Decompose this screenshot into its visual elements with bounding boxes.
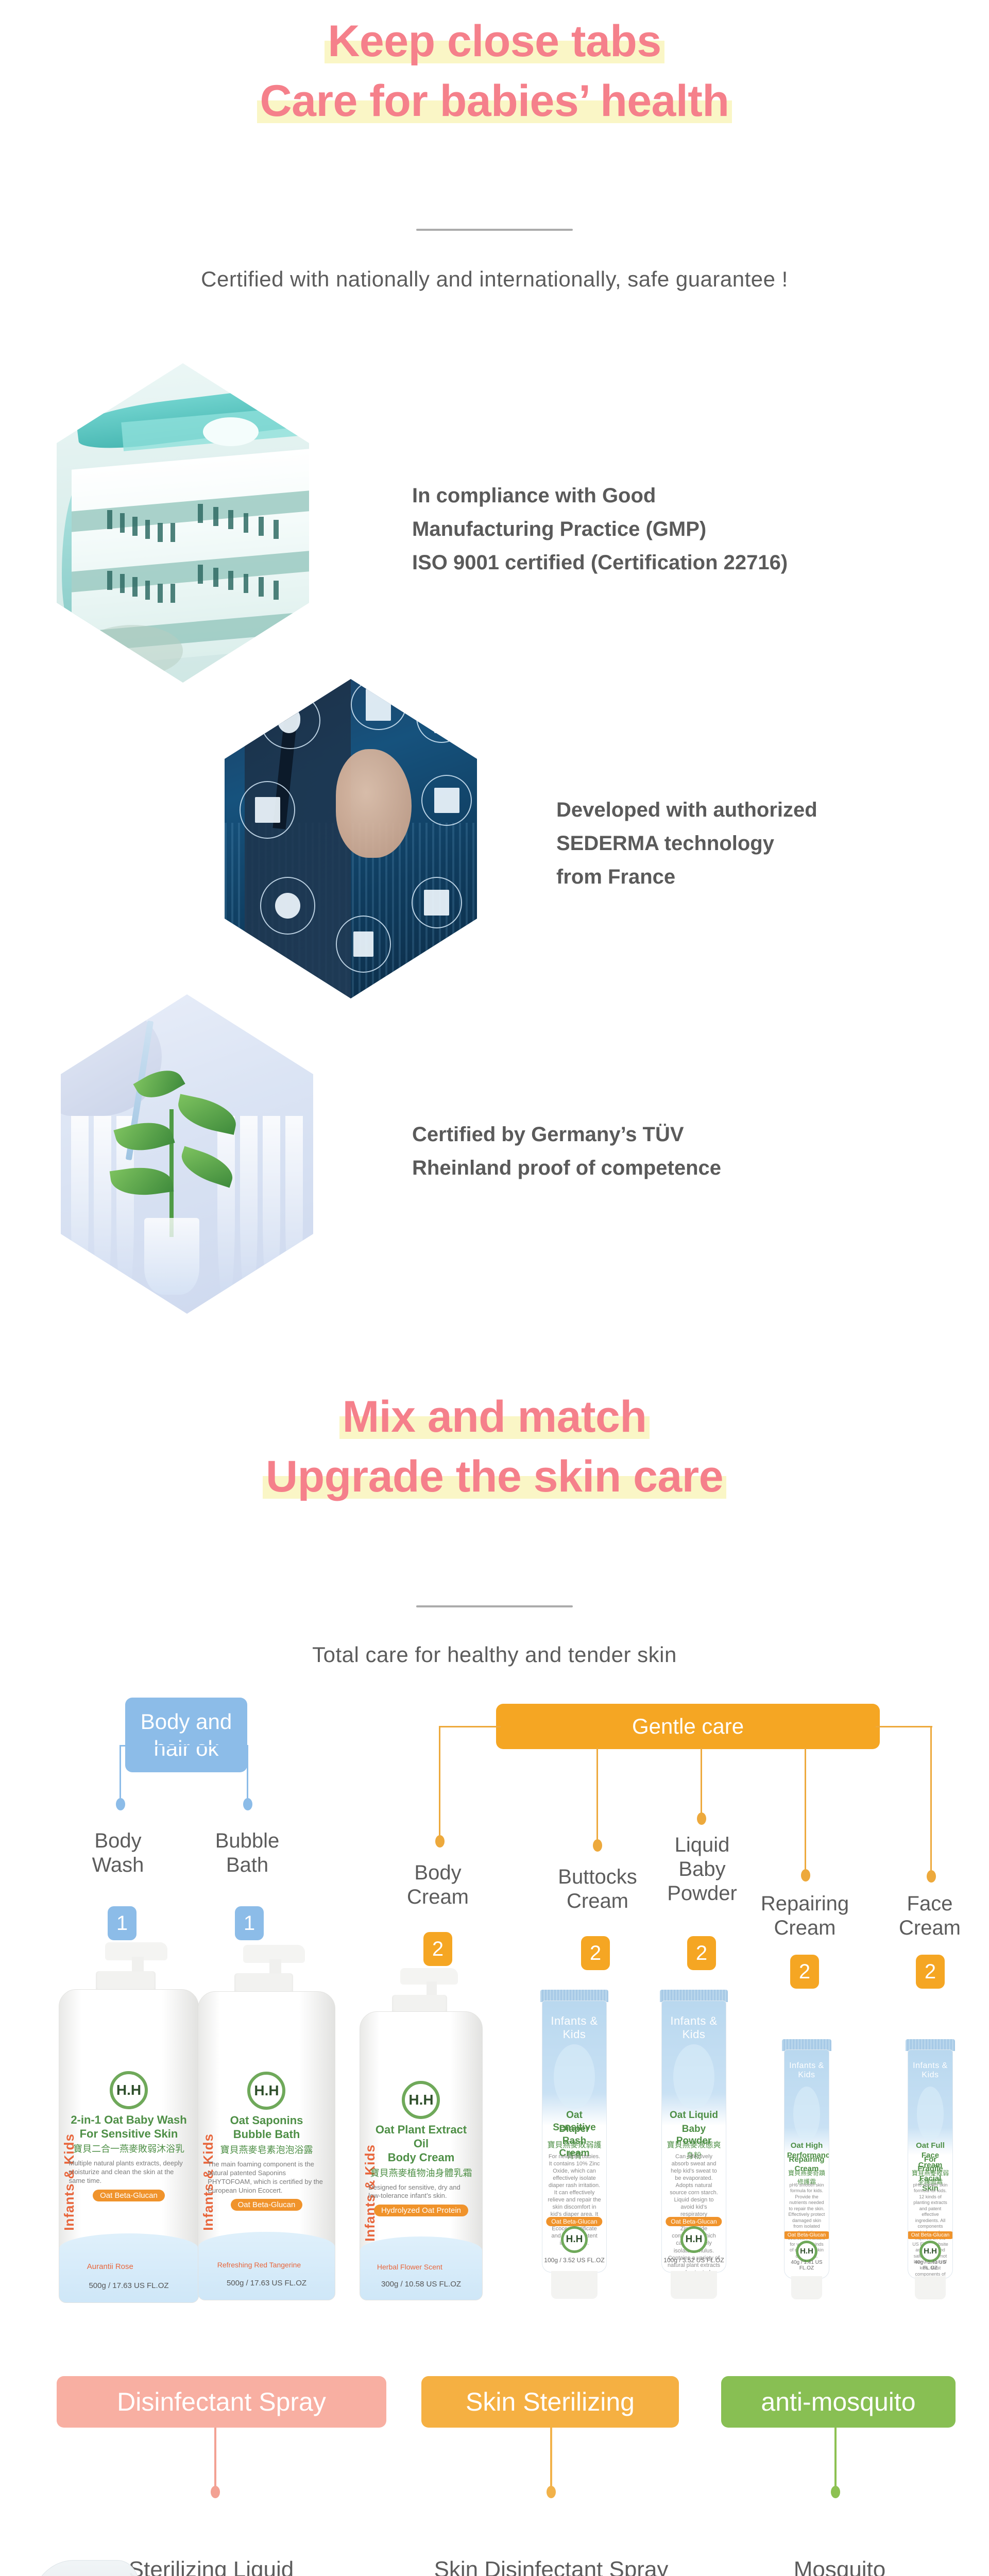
certification-hexagon-laboratory [61,994,313,1314]
bottle-title-cn: 寶貝燕麥皂素泡泡浴露 [220,2143,313,2156]
badge-repairing-cream: 2 [790,1955,819,1989]
badge-liquid-baby-powder: 2 [687,1936,716,1970]
section1-heading-line2: Care for babies’ health [257,75,732,127]
product-label-liquid-baby-powder: Liquid Baby Powder [653,1833,751,1906]
caption-line: Rheinland proof of competence [412,1151,721,1185]
ingredient-chip: Oat Beta-Glucan [784,2231,830,2239]
connector-horizontal [439,1726,501,1727]
section2-heading: Mix and match [0,1391,989,1443]
caption-line: SEDERMA technology [556,827,817,860]
tube-description: Can effectively absorb sweat and help ki… [667,2153,721,2273]
bottle-bullet-1: Designed for sensitive, dry and low-tole… [368,2183,473,2201]
certification-caption-sederma: Developed with authorized SEDERMA techno… [556,793,817,893]
caption-line: ISO 9001 certified (Certification 22716) [412,546,788,580]
connector-dot [211,2486,220,2498]
connector-horizontal [120,1745,248,1747]
certification-caption-gmp: In compliance with Good Manufacturing Pr… [412,479,788,579]
product-label-body-wash: Body Wash [69,1829,167,1877]
net-size: 500g / 17.63 US FL.OZ [198,2279,335,2287]
connector-dot [801,1869,810,1882]
group-tag-anti-mosquito[interactable]: anti-mosquito [721,2376,956,2428]
badge-face-cream: 2 [916,1955,945,1989]
tube-brand-line: Infants & Kids [785,2061,829,2080]
certification-hexagon-technology [225,679,477,998]
certification-hexagon-factory [57,363,309,683]
net-size: 40g / 1.41 US FL.OZ [785,2260,829,2271]
bottle-title-cn: 寶貝燕麥植物油身體乳霜 [370,2166,472,2179]
product-label-mosquito-repellent: Mosquito Repellent [757,2556,922,2576]
brand-logo: H.H [796,2241,817,2262]
brand-logo: H.H [402,2081,440,2119]
connector-dot [435,1835,445,1848]
product-image-sterilizing-liquid-350: TechnoMax and Haccpper Patent Generation… [26,2555,221,2576]
bottle-title-line1: 2-in-1 Oat Baby Wash [71,2113,186,2127]
group-tag-gentle-care[interactable]: Gentle care [496,1704,880,1749]
connector-dot [697,1812,706,1825]
connector-vertical [805,1748,806,1873]
connector-vertical [834,2428,837,2489]
product-image-bubble-bath: Infants & Kids H.H Oat Saponins Bubble B… [193,1945,340,2300]
bottle-title-line2: Body Cream [388,2151,455,2165]
product-label-face-cream: Face Cream [883,1892,976,1940]
product-image-face-cream: Infants & Kids Oat Full Face Cream For F… [902,2039,958,2299]
connector-vertical [247,1745,248,1802]
brand-logo: H.H [561,2226,588,2253]
product-label-buttocks-cream: Buttocks Cream [543,1865,652,1913]
group-tag-body-and-hair-ok[interactable]: Body and hair ok [125,1698,247,1772]
net-size: 500g / 17.63 US FL.OZ [59,2281,199,2290]
ingredient-chip: Oat Beta-Glucan [546,2217,602,2226]
brand-logo: H.H [247,2072,285,2110]
tube-brand-line: Infants & Kids [662,2014,726,2041]
connector-vertical [701,1748,702,1816]
badge-buttocks-cream: 2 [581,1936,610,1970]
caption-line: In compliance with Good [412,479,788,513]
connector-vertical [550,2428,552,2489]
product-image-repairing-cream: Infants & Kids Oat High Performance Repa… [779,2039,834,2299]
bottle-title-cn: 寶貝二合一燕麥敗弱沐浴乳 [73,2142,184,2155]
section2-divider [416,1605,573,1607]
bottle-title-line2: For Sensitive Skin [80,2127,178,2141]
section1-heading-line1: Keep close tabs [325,15,664,67]
scent-label: Aurantii Rose [87,2262,133,2271]
brand-logo: H.H [919,2241,941,2262]
connector-dot [243,1798,252,1810]
group-tag-label-line1: Body and [141,1708,232,1735]
ingredient-chip: Hydrolyzed Oat Protein [374,2205,468,2216]
tube-brand-line: Infants & Kids [908,2061,953,2080]
section1-subcaption: Certified with nationally and internatio… [0,267,989,292]
caption-line: Developed with authorized [556,793,817,827]
bottle-bullet-1: Multiple natural plants extracts, deeply… [69,2159,189,2185]
group-tag-label-line2: hair ok [154,1735,218,1761]
section1-divider [416,229,573,231]
product-label-repairing-cream: Repairing Cream [752,1892,858,1940]
caption-line: from France [556,860,817,894]
connector-vertical [214,2428,216,2489]
product-label-body-cream: Body Cream [391,1861,484,1909]
connector-dot [927,1870,936,1883]
product-image-buttocks-cream: Infants & Kids Oat Sensitive Diaper Rash… [536,1990,613,2299]
connector-dot [593,1839,602,1852]
section2-heading-line2: Upgrade the skin care [263,1451,726,1503]
connector-vertical [439,1726,440,1839]
caption-line: Certified by Germany’s TÜV [412,1118,721,1151]
factory-building-photo [57,363,309,683]
badge-body-cream: 2 [423,1932,452,1966]
ingredient-chip: Oat Beta-Glucan [231,2199,303,2211]
digital-technology-photo [225,679,477,998]
certification-caption-tuv: Certified by Germany’s TÜV Rheinland pro… [412,1118,721,1185]
product-landing-page: Keep close tabs Care for babies’ health … [0,0,989,2576]
ingredient-chip: Oat Beta-Glucan [93,2190,165,2201]
net-size: 300g / 10.58 US FL.OZ [360,2280,483,2289]
product-label-bubble-bath: Bubble Bath [198,1829,296,1877]
scent-label: Herbal Flower Scent [377,2263,442,2271]
badge-body-wash: 1 [108,1906,137,1940]
net-size: 100g / 3.52 US FL.OZ [542,2257,606,2264]
product-label-skin-disinfectant-spray: Skin Disinfectant Spray [397,2556,706,2576]
product-image-body-cream: Infants & Kids H.H Oat Plant Extract Oil… [355,1968,487,2300]
caption-line: Manufacturing Practice (GMP) [412,513,788,546]
product-image-liquid-baby-powder: Infants & Kids Oat Liquid Baby Powder 寶貝… [655,1990,732,2299]
bottle-bullet-1: The main foaming component is the natura… [208,2160,326,2195]
badge-bubble-bath: 1 [235,1906,264,1940]
bottle-title-line2: Bubble Bath [233,2128,300,2142]
group-tag-skin-sterilizing[interactable]: Skin Sterilizing [421,2376,679,2428]
bottle-title-line1: Oat Plant Extract Oil [368,2123,473,2151]
brand-logo: H.H [110,2071,148,2109]
connector-vertical [120,1745,121,1802]
tube-brand-line: Infants & Kids [542,2014,606,2041]
laboratory-plant-photo [61,994,313,1314]
section1-heading-2: Care for babies’ health [0,75,989,127]
bottle-title-line1: Oat Saponins [230,2114,303,2128]
section2-subcaption: Total care for healthy and tender skin [0,1642,989,1667]
connector-dot [547,2486,556,2498]
net-size: 100g / 3.52 US FL.OZ [662,2257,726,2264]
ingredient-chip: Oat Beta-Glucan [666,2217,722,2226]
connector-horizontal [876,1726,932,1727]
brand-logo: H.H [680,2226,707,2253]
scent-label: Refreshing Red Tangerine [217,2261,301,2269]
section1-heading: Keep close tabs [0,15,989,67]
connector-dot [831,2486,840,2498]
connector-vertical [930,1726,932,1873]
connector-dot [116,1798,125,1810]
tube-title-line1: Oat Liquid [666,2109,722,2122]
section2-heading-line1: Mix and match [339,1391,650,1443]
ingredient-chip: Oat Beta-Glucan [908,2231,953,2239]
group-tag-disinfectant-spray[interactable]: Disinfectant Spray [57,2376,386,2428]
section2-heading-2: Upgrade the skin care [0,1451,989,1503]
product-image-body-wash: Infants & Kids H.H 2-in-1 Oat Baby Wash … [54,1942,203,2303]
connector-vertical [596,1748,598,1843]
net-size: 40g / 1.41 US FL.OZ [908,2260,953,2271]
